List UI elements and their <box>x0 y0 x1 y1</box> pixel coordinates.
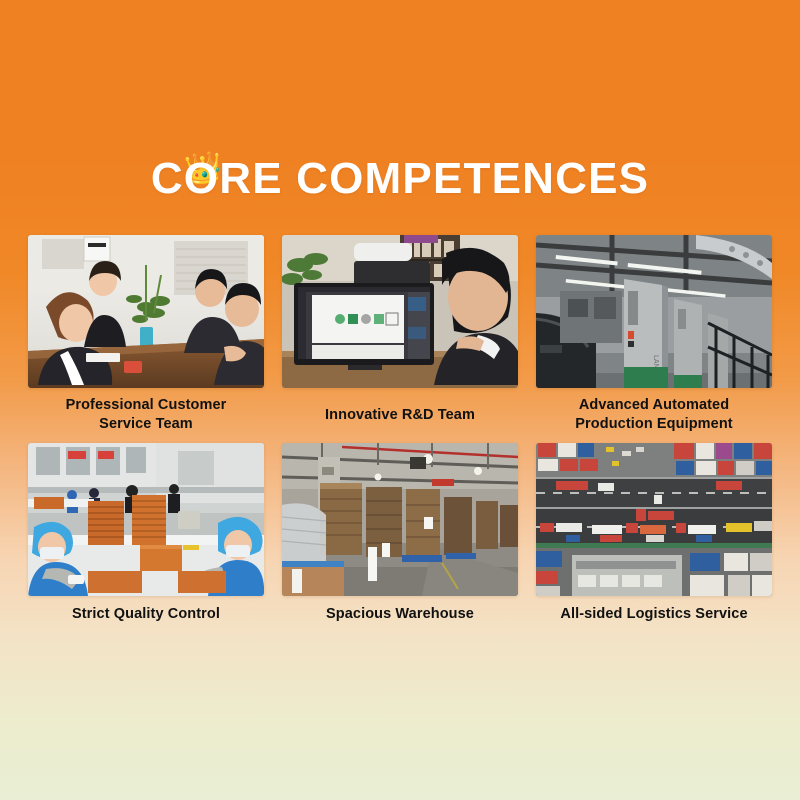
card-image-designer-at-computer <box>282 235 518 388</box>
page-title: CORE COMPETENCES <box>151 150 649 208</box>
card-image-office-meeting <box>28 235 264 388</box>
card-caption: All-sided Logistics Service <box>536 604 772 624</box>
card-image-quality-inspection-line <box>28 443 264 596</box>
card-image-printing-press-factory: LAND 800 <box>536 235 772 388</box>
card-advanced-automated-production-equipment[interactable]: LAND 800 <box>536 235 772 434</box>
card-professional-customer-service-team[interactable]: Professional Customer Service Team <box>28 235 264 434</box>
core-competences-banner: 👑 CORE COMPETENCES <box>0 0 800 800</box>
card-caption: Strict Quality Control <box>28 604 264 624</box>
card-spacious-warehouse[interactable]: Spacious Warehouse <box>282 443 518 624</box>
card-all-sided-logistics-service[interactable]: All-sided Logistics Service <box>536 443 772 624</box>
card-innovative-rd-team[interactable]: Innovative R&D Team <box>282 235 518 434</box>
card-image-warehouse-pallets <box>282 443 518 596</box>
competence-grid: Professional Customer Service Team <box>28 235 773 624</box>
card-caption: Advanced Automated Production Equipment <box>536 396 772 434</box>
card-caption: Professional Customer Service Team <box>28 396 264 434</box>
title-block: 👑 CORE COMPETENCES <box>0 150 800 208</box>
card-caption: Spacious Warehouse <box>282 604 518 624</box>
card-image-aerial-container-port <box>536 443 772 596</box>
card-caption: Innovative R&D Team <box>282 396 518 434</box>
card-strict-quality-control[interactable]: Strict Quality Control <box>28 443 264 624</box>
